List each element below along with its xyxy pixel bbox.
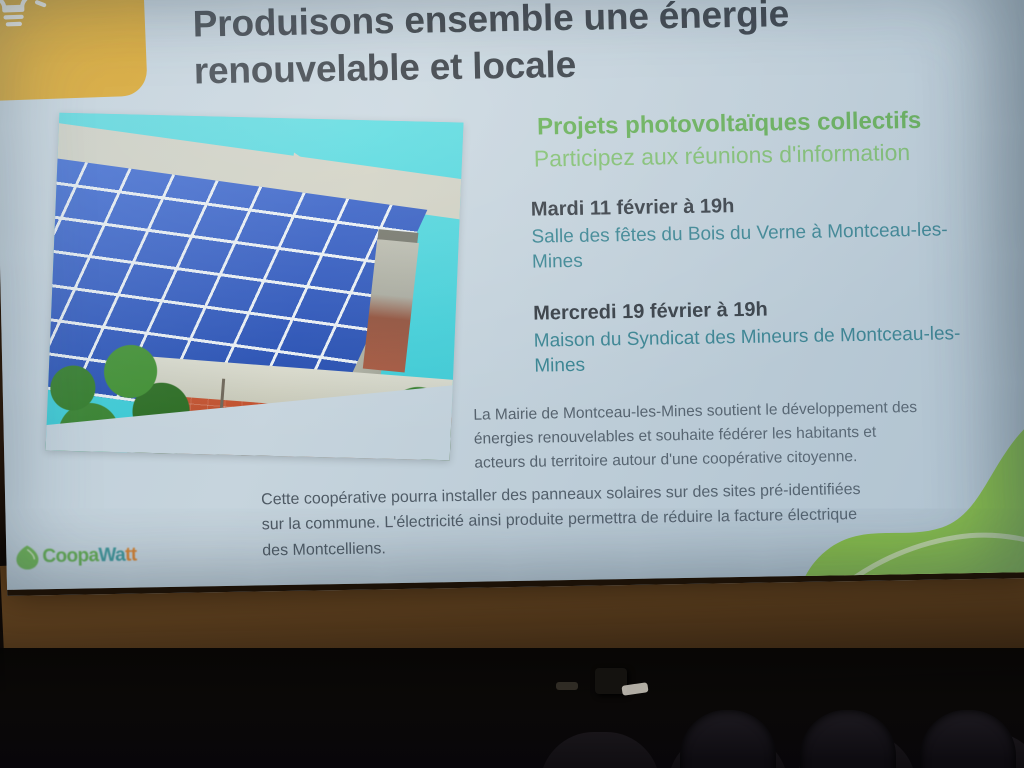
logo-text-tt: tt (125, 545, 137, 566)
equipment-dark (556, 682, 578, 690)
seat (540, 732, 660, 768)
meeting-entry: Mercredi 19 février à 19h Maison du Synd… (533, 293, 965, 379)
meeting-datetime: Mardi 11 février à 19h (531, 189, 962, 222)
seat (800, 710, 896, 768)
photographed-room: Produisons ensemble une énergie renouvel… (0, 0, 1024, 768)
presentation-slide: Produisons ensemble une énergie renouvel… (0, 0, 1024, 596)
meeting-location: Maison du Syndicat des Mineurs de Montce… (534, 322, 965, 379)
paragraph-cooperative: Cette coopérative pourra installer des p… (261, 477, 863, 563)
leaf-icon (14, 543, 41, 571)
meeting-location: Salle des fêtes du Bois du Verne à Montc… (531, 218, 962, 275)
projects-heading: Projets photovoltaïques collectifs (537, 104, 1008, 141)
logo-wordmark: CoopaWatt (42, 545, 137, 569)
meeting-entry: Mardi 11 février à 19h Salle des fêtes d… (531, 189, 963, 275)
green-blob-decoration (789, 393, 1024, 596)
logo-text-coopa: Coopa (42, 545, 99, 567)
solar-roof-photo (46, 113, 464, 460)
meeting-datetime: Mercredi 19 février à 19h (533, 293, 964, 326)
seat (680, 710, 776, 768)
seat (920, 710, 1016, 768)
coopawatt-logo: CoopaWatt (14, 542, 137, 572)
logo-text-wa: Wa (98, 545, 125, 566)
lightbulb-icon (0, 0, 70, 48)
projection-screen: Produisons ensemble une énergie renouvel… (0, 0, 1024, 590)
audience-seating (0, 648, 1024, 768)
slide-title: Produisons ensemble une énergie renouvel… (192, 0, 984, 95)
yellow-corner-badge (0, 0, 148, 103)
projects-subheading: Participez aux réunions d'information (534, 136, 1015, 172)
